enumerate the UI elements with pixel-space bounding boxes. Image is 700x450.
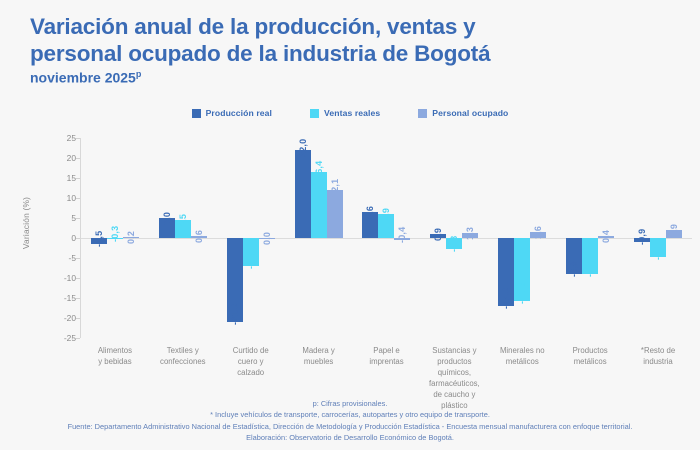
bar-value-label: -21,0 <box>230 303 240 325</box>
y-axis-ticks: 2520151050-5-10-15-20-25 <box>46 138 80 338</box>
bar-value-label: 22,0 <box>298 139 308 157</box>
y-axis-tick: 10 <box>46 193 80 204</box>
bar-value-label: -0,4 <box>397 226 407 242</box>
footnote-line: Elaboración: Observatorio de Desarrollo … <box>0 432 700 443</box>
bar-slot: 0,9 <box>430 138 446 338</box>
legend-label: Personal ocupado <box>432 108 508 118</box>
legend-swatch-icon <box>192 109 201 118</box>
y-axis-tick: 20 <box>46 153 80 164</box>
chart-subtitle-text: noviembre 2025 <box>30 70 136 86</box>
x-axis-category-label: Papel e imprentas <box>353 345 421 367</box>
legend-swatch-icon <box>418 109 427 118</box>
y-axis-tick: -20 <box>46 313 80 324</box>
bar-value-label: 1,6 <box>533 225 543 238</box>
bar-value-label: 0,9 <box>433 228 443 241</box>
bar-group: 0,9-2,81,3 <box>420 138 488 338</box>
bar-value-label: 1,3 <box>465 227 475 240</box>
bar-slot: 0,0 <box>259 138 275 338</box>
bar[interactable] <box>311 172 327 238</box>
bar-slot: -15,8 <box>514 138 530 338</box>
bar-slot: 6,6 <box>362 138 378 338</box>
legend-swatch-icon <box>310 109 319 118</box>
bar-value-label: -15,8 <box>517 283 527 305</box>
bar-value-label: 0,0 <box>262 232 272 245</box>
bar-slot: -1,5 <box>91 138 107 338</box>
bar-group-bars: 22,016,412,1 <box>285 138 353 338</box>
bar-value-label: 5,9 <box>381 208 391 221</box>
x-axis-category-label: Madera y muebles <box>285 345 353 367</box>
bar-value-label: -1,5 <box>94 231 104 247</box>
y-axis-tick: 15 <box>46 173 80 184</box>
bar-value-label: 1,9 <box>669 224 679 237</box>
y-axis-tick: -25 <box>46 333 80 344</box>
footnote-line: Fuente: Departamento Administrativo Naci… <box>0 421 700 432</box>
bar-value-label: 5,0 <box>162 212 172 225</box>
chart-subtitle-superscript: p <box>136 69 142 79</box>
bar-slot: -21,0 <box>227 138 243 338</box>
bar-group: -8,9-9,10,4 <box>556 138 624 338</box>
bar-group: 22,016,412,1 <box>285 138 353 338</box>
bar-group: -1,5-0,30,2 <box>81 138 149 338</box>
x-axis-category-label: Textiles y confecciones <box>149 345 217 367</box>
footnote-line: * Incluye vehículos de transporte, carro… <box>0 409 700 420</box>
bar-slot: 0,2 <box>123 138 139 338</box>
bar-value-label: 4,5 <box>178 214 188 227</box>
bar-slot: -8,9 <box>566 138 582 338</box>
bar-value-label: -8,9 <box>569 260 579 276</box>
y-axis-tick: 5 <box>46 213 80 224</box>
y-axis-tick: -10 <box>46 273 80 284</box>
bar-slot: 12,1 <box>327 138 343 338</box>
bar-slot: 0,6 <box>191 138 207 338</box>
bar-slot: 4,5 <box>175 138 191 338</box>
bars-container: -1,5-0,30,25,04,50,6-21,0-6,90,022,016,4… <box>81 138 692 338</box>
bar-group-bars: 0,9-2,81,3 <box>420 138 488 338</box>
bar-slot: -2,8 <box>446 138 462 338</box>
legend-item[interactable]: Personal ocupado <box>418 108 508 118</box>
bar-slot: 22,0 <box>295 138 311 338</box>
y-axis-tick: 0 <box>46 233 80 244</box>
bar-group: 6,65,9-0,4 <box>353 138 421 338</box>
legend-item[interactable]: Ventas reales <box>310 108 380 118</box>
footnotes: p: Cifras provisionales.* Incluye vehícu… <box>0 398 700 444</box>
bar-slot: -0,4 <box>394 138 410 338</box>
x-axis-category-label: Productos metálicos <box>556 345 624 367</box>
bar-value-label: -0,9 <box>637 228 647 244</box>
bar-value-label: 0,6 <box>194 229 204 242</box>
bar-group-bars: -8,9-9,10,4 <box>556 138 624 338</box>
bar-group: -17,0-15,81,6 <box>488 138 556 338</box>
bar[interactable] <box>295 150 311 238</box>
bar-slot: 16,4 <box>311 138 327 338</box>
legend-label: Ventas reales <box>324 108 380 118</box>
bar-value-label: -17,0 <box>501 287 511 309</box>
bar-value-label: 16,4 <box>314 161 324 179</box>
bar-value-label: 0,2 <box>126 231 136 244</box>
bar-slot: -17,0 <box>498 138 514 338</box>
y-axis-tick: -5 <box>46 253 80 264</box>
bar-group-bars: 5,04,50,6 <box>149 138 217 338</box>
x-axis-category-label: *Resto de industria <box>624 345 692 367</box>
bar-slot: 5,9 <box>378 138 394 338</box>
legend-label: Producción real <box>206 108 272 118</box>
bar-group-bars: -17,0-15,81,6 <box>488 138 556 338</box>
x-axis-category-label: Alimentos y bebidas <box>81 345 149 367</box>
bar-slot: 1,6 <box>530 138 546 338</box>
y-axis-tick: 25 <box>46 133 80 144</box>
bar-value-label: -0,3 <box>110 226 120 242</box>
bar-slot: 0,4 <box>598 138 614 338</box>
bar-group-bars: -0,9-4,71,9 <box>624 138 692 338</box>
bar-slot: -0,3 <box>107 138 123 338</box>
y-axis-title: Variación (%) <box>21 173 31 273</box>
bar-slot: -4,7 <box>650 138 666 338</box>
bar-group: -0,9-4,71,9 <box>624 138 692 338</box>
bar-group-bars: -21,0-6,90,0 <box>217 138 285 338</box>
title-block: Variación anual de la producción, ventas… <box>30 14 670 86</box>
bar-value-label: 0,4 <box>601 230 611 243</box>
chart-subtitle: noviembre 2025p <box>30 70 670 86</box>
bar-slot: -6,9 <box>243 138 259 338</box>
bar-slot: 1,3 <box>462 138 478 338</box>
bar-group: -21,0-6,90,0 <box>217 138 285 338</box>
bar-slot: 5,0 <box>159 138 175 338</box>
y-axis-tick: -15 <box>46 293 80 304</box>
x-axis-category-label: Minerales no metálicos <box>488 345 556 367</box>
bar-slot: 1,9 <box>666 138 682 338</box>
bar-group-bars: 6,65,9-0,4 <box>353 138 421 338</box>
bar-value-label: -6,9 <box>246 252 256 268</box>
bar-value-label: -2,8 <box>449 236 459 252</box>
plot-area: Variación (%) 2520151050-5-10-15-20-25 -… <box>0 130 700 395</box>
legend-item[interactable]: Producción real <box>192 108 272 118</box>
bar-slot: -9,1 <box>582 138 598 338</box>
bar-value-label: 6,6 <box>365 205 375 218</box>
bar-group-bars: -1,5-0,30,2 <box>81 138 149 338</box>
bar-value-label: 12,1 <box>330 178 340 196</box>
bar-value-label: -4,7 <box>653 243 663 259</box>
footnote-line: p: Cifras provisionales. <box>0 398 700 409</box>
bar-value-label: -9,1 <box>585 261 595 277</box>
bar-slot: -0,9 <box>634 138 650 338</box>
chart-legend: Producción realVentas realesPersonal ocu… <box>0 108 700 118</box>
page-title: Variación anual de la producción, ventas… <box>30 14 670 67</box>
bar-group: 5,04,50,6 <box>149 138 217 338</box>
x-axis-category-label: Curtido de cuero y calzado <box>217 345 285 378</box>
